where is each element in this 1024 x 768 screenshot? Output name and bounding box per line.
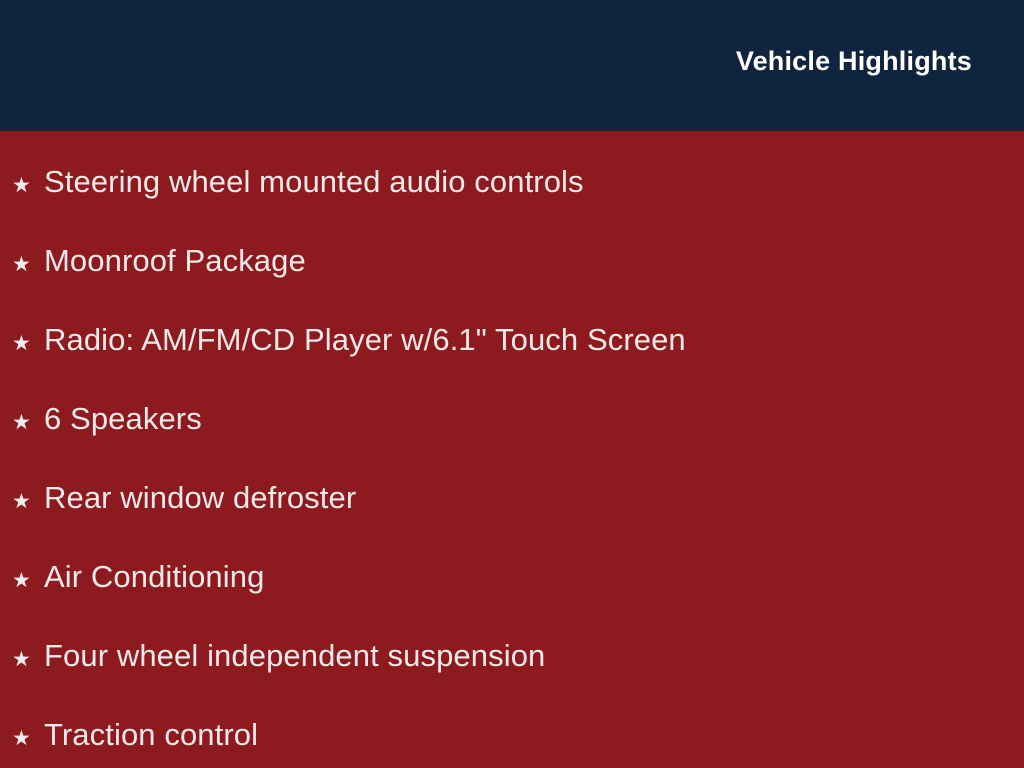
slide-header-bar: Vehicle Highlights bbox=[0, 0, 1024, 131]
list-item-label: Air Conditioning bbox=[44, 537, 1024, 616]
list-item: ★ Air Conditioning bbox=[12, 537, 1024, 616]
list-item-label: Traction control bbox=[44, 695, 1024, 768]
star-icon: ★ bbox=[12, 462, 44, 541]
list-item-label: Radio: AM/FM/CD Player w/6.1" Touch Scre… bbox=[44, 300, 1024, 379]
page-title: Vehicle Highlights bbox=[736, 46, 972, 77]
list-item: ★ Steering wheel mounted audio controls bbox=[12, 142, 1024, 221]
star-icon: ★ bbox=[12, 304, 44, 383]
list-item-label: Four wheel independent suspension bbox=[44, 616, 1024, 695]
list-item: ★ Moonroof Package bbox=[12, 221, 1024, 300]
star-icon: ★ bbox=[12, 383, 44, 462]
list-item: ★ 6 Speakers bbox=[12, 379, 1024, 458]
star-icon: ★ bbox=[12, 225, 44, 304]
list-item: ★ Radio: AM/FM/CD Player w/6.1" Touch Sc… bbox=[12, 300, 1024, 379]
list-item-label: 6 Speakers bbox=[44, 379, 1024, 458]
list-item-label: Steering wheel mounted audio controls bbox=[44, 142, 1024, 221]
list-item: ★ Traction control bbox=[12, 695, 1024, 768]
vehicle-highlights-list: ★ Steering wheel mounted audio controls … bbox=[12, 142, 1024, 768]
star-icon: ★ bbox=[12, 620, 44, 699]
vehicle-highlights-slide: Vehicle Highlights ★ Steering wheel moun… bbox=[0, 0, 1024, 768]
star-icon: ★ bbox=[12, 541, 44, 620]
list-item: ★ Four wheel independent suspension bbox=[12, 616, 1024, 695]
star-icon: ★ bbox=[12, 146, 44, 225]
list-item: ★ Rear window defroster bbox=[12, 458, 1024, 537]
list-item-label: Rear window defroster bbox=[44, 458, 1024, 537]
list-item-label: Moonroof Package bbox=[44, 221, 1024, 300]
slide-content-area: ★ Steering wheel mounted audio controls … bbox=[0, 131, 1024, 768]
star-icon: ★ bbox=[12, 699, 44, 768]
